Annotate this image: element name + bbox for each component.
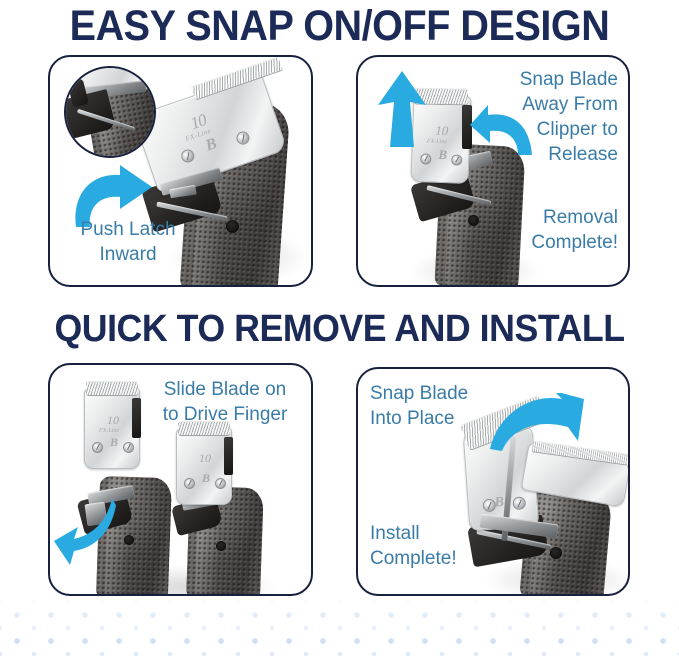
decorative-dot-pattern <box>0 596 679 662</box>
clipper-port-hole <box>550 547 562 559</box>
blade-engraving-brand: B <box>438 148 447 161</box>
blade-side-slot-left <box>132 398 141 438</box>
blade-engraving-brand: B <box>494 496 504 511</box>
blade-engraving-brand: B <box>110 436 118 448</box>
blade-engraving-number: 10 <box>435 124 448 137</box>
panel-slide-blade-on: 10 FX-Line B 10 B Slide Blade on to Driv… <box>48 363 313 596</box>
panel-push-latch: 10 FX-Line B Push Latch Inward <box>48 55 313 287</box>
page-title-secondary: QUICK TO REMOVE AND INSTALL <box>20 308 658 351</box>
blade-screw-right-2 <box>215 478 226 489</box>
blade-screw-right <box>512 496 526 510</box>
blade-screw-left-2 <box>184 478 195 489</box>
panel-snap-into-place: B Snap Blade Into Place Install Complete… <box>356 367 630 596</box>
caption-snap-into-place: Snap Blade Into Place <box>370 381 510 431</box>
caption-push-latch: Push Latch Inward <box>58 217 198 267</box>
page-title-primary: EASY SNAP ON/OFF DESIGN <box>27 2 652 51</box>
blade-screw-right <box>123 442 134 453</box>
clipper-port-hole-right <box>216 541 226 551</box>
clipper-port-hole-left <box>124 535 134 545</box>
caption-slide-blade: Slide Blade on to Drive Finger <box>145 377 305 427</box>
caption-snap-blade-away: Snap Blade Away From Clipper to Release <box>468 67 618 167</box>
blade-screw-left <box>420 153 431 164</box>
blade-screw-left <box>92 442 103 453</box>
blade-engraving-number-2: 10 <box>199 452 211 464</box>
blade-side-slot-right <box>224 437 233 475</box>
infographic-stage: EASY SNAP ON/OFF DESIGN QUICK TO REMOVE … <box>0 0 679 662</box>
blade-engraving-subtext: FX-Line <box>99 428 119 434</box>
blade-engraving-brand: B <box>204 136 219 155</box>
arrow-up-icon <box>376 71 428 147</box>
blade-screw-right <box>235 130 252 147</box>
caption-install-complete: Install Complete! <box>370 521 520 571</box>
blade-screw-right <box>451 154 462 165</box>
caption-removal-complete: Removal Complete! <box>468 205 618 255</box>
panel-snap-blade-away: 10 FX-Line B Snap Blade Away From Clippe… <box>356 55 630 287</box>
blade-engraving-number: 10 <box>107 414 119 426</box>
blade-engraving-brand-2: B <box>202 472 210 484</box>
blade-engraving-subtext: FX-Line <box>427 139 447 146</box>
latch-closeup-inset <box>64 66 156 158</box>
curved-arrow-down-left-icon <box>54 495 116 571</box>
blade-teeth-left <box>86 381 138 396</box>
blade-screw-left <box>180 148 197 165</box>
